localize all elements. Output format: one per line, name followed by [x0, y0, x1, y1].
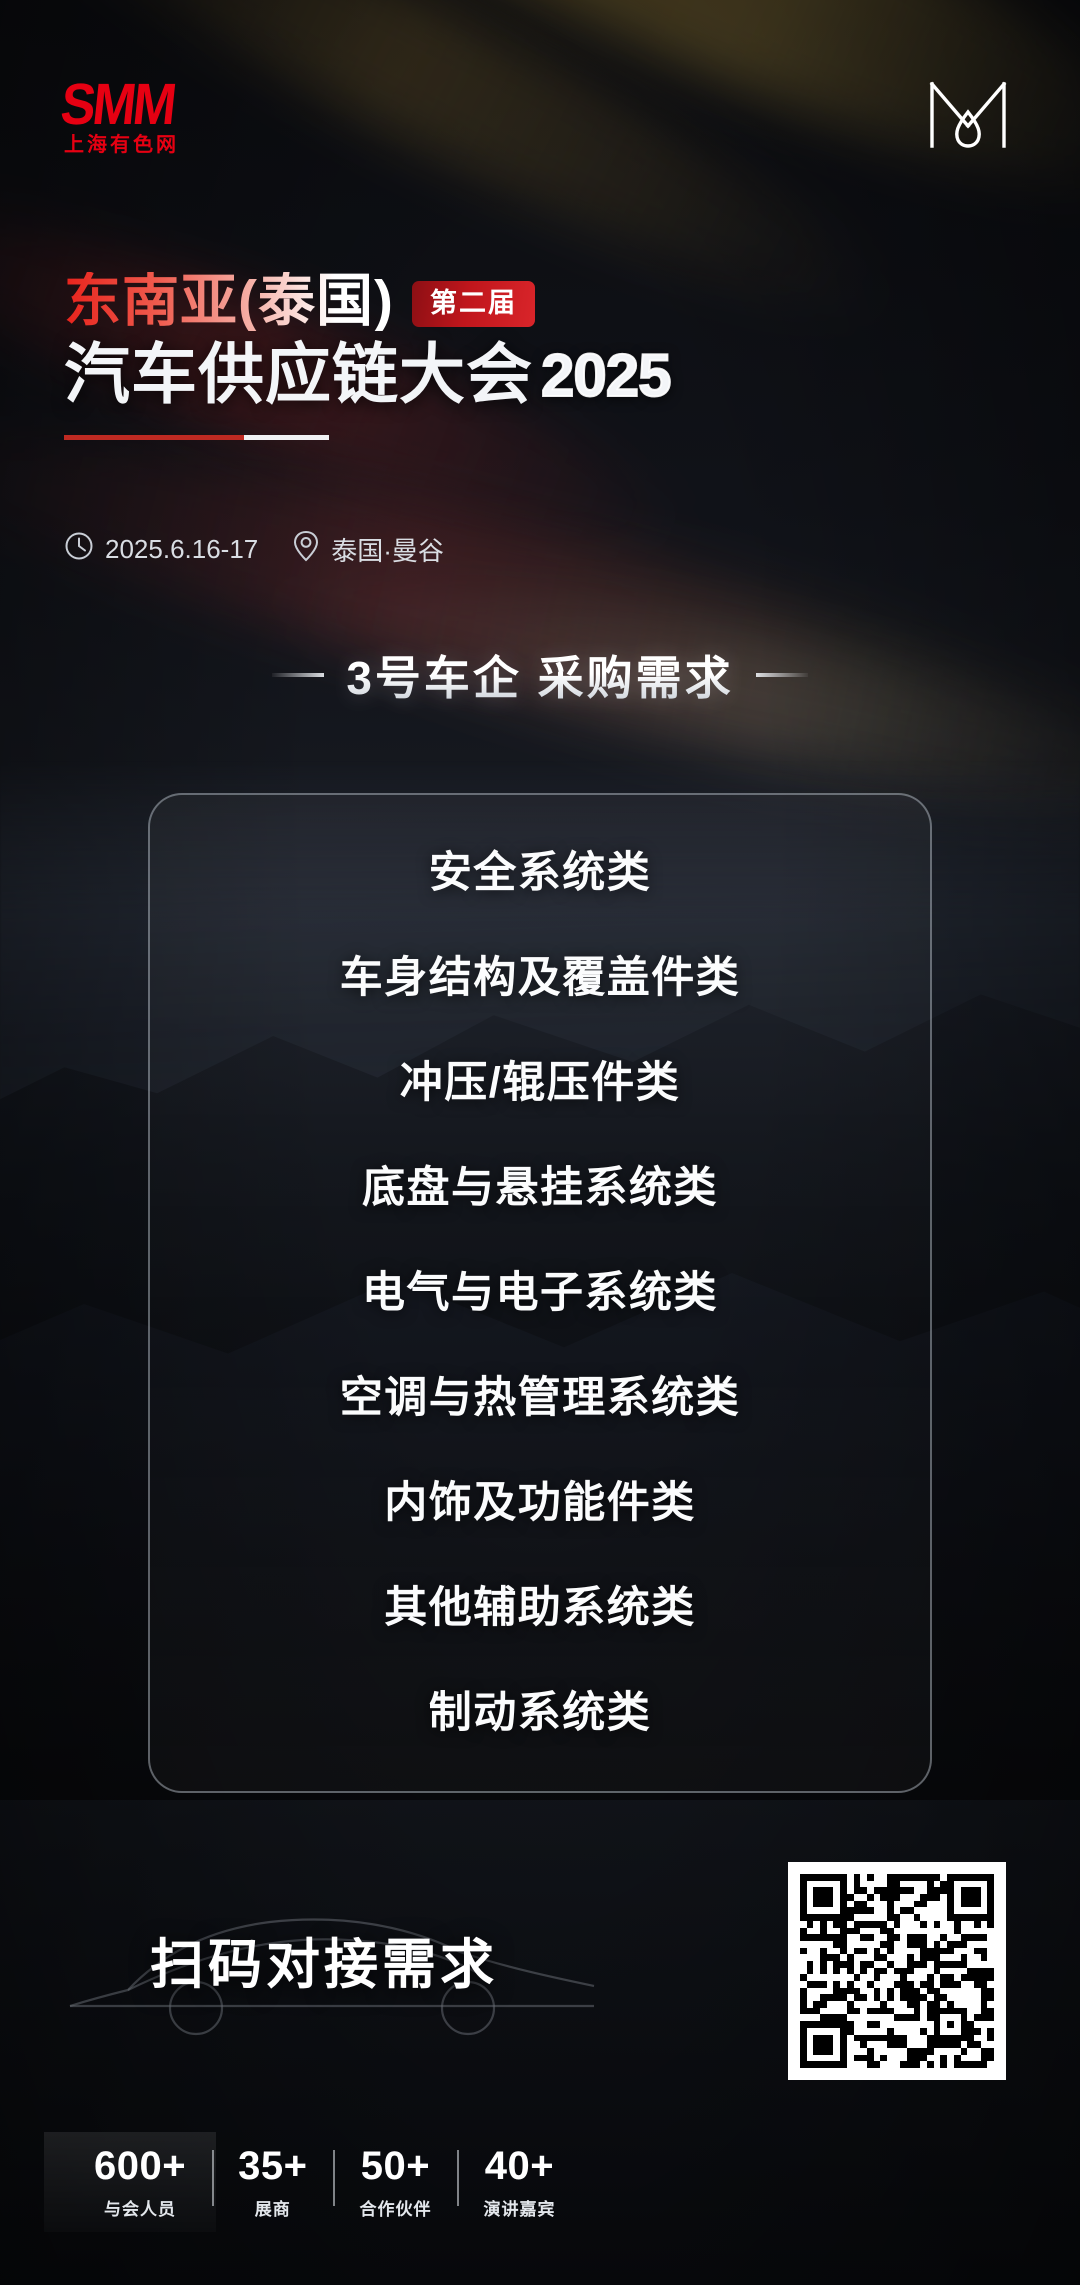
qr-module [840, 1881, 847, 1888]
qr-module [934, 1901, 941, 1908]
qr-module [867, 1887, 874, 1894]
qr-module [847, 1901, 854, 1908]
qr-module [813, 1887, 820, 1894]
qr-module [874, 1928, 881, 1935]
stat-item: 600+与会人员 [64, 2146, 212, 2220]
smm-logo: SMM 上海有色网 [64, 78, 179, 155]
qr-module [840, 2041, 847, 2048]
qr-module [887, 1934, 894, 1941]
qr-module [940, 1981, 947, 1988]
qr-module [807, 2061, 814, 2068]
qr-module [974, 2055, 981, 2062]
qr-module [974, 1881, 981, 1888]
qr-module [813, 2021, 820, 2028]
qr-module [920, 1928, 927, 1935]
qr-module [880, 1894, 887, 1901]
qr-module [927, 1974, 934, 1981]
qr-module [894, 2035, 901, 2042]
qr-module [954, 1941, 961, 1948]
qr-module [954, 1921, 961, 1928]
qr-module [887, 1914, 894, 1921]
qr-module [813, 1974, 820, 1981]
qr-module [947, 2008, 954, 2015]
qr-module [887, 1881, 894, 1888]
qr-module [894, 1974, 901, 1981]
qr-module [867, 1881, 874, 1888]
qr-module [927, 1961, 934, 1968]
qr-module [874, 1974, 881, 1981]
qr-module [954, 2021, 961, 2028]
qr-module [894, 1954, 901, 1961]
qr-module [974, 1901, 981, 1908]
qr-module [914, 1894, 921, 1901]
qr-module [920, 1914, 927, 1921]
qr-module [954, 1874, 961, 1881]
divider-segment-red [64, 435, 244, 440]
poster-canvas: SMM 上海有色网 东南亚(泰国) 第二届 汽车供应链大会 2025 [0, 0, 1080, 2285]
qr-module [894, 2061, 901, 2068]
qr-module [961, 2014, 968, 2021]
qr-module [900, 2008, 907, 2015]
qr-module [833, 2041, 840, 2048]
qr-module [847, 1974, 854, 1981]
qr-module [833, 2001, 840, 2008]
qr-code-icon[interactable] [788, 1862, 1006, 2080]
qr-module [860, 1934, 867, 1941]
qr-module [833, 1954, 840, 1961]
qr-module [894, 1901, 901, 1908]
qr-module [894, 2048, 901, 2055]
qr-module [981, 2035, 988, 2042]
qr-module [981, 1941, 988, 1948]
qr-module [874, 1981, 881, 1988]
qr-module [961, 2028, 968, 2035]
qr-module [947, 2021, 954, 2028]
qr-module [920, 2048, 927, 2055]
qr-module [947, 1961, 954, 1968]
qr-module [907, 1928, 914, 1935]
qr-module [947, 1941, 954, 1948]
qr-module [833, 1914, 840, 1921]
qr-module [887, 1994, 894, 2001]
qr-module [860, 2028, 867, 2035]
qr-module [961, 1974, 968, 1981]
qr-module [947, 1981, 954, 1988]
qr-module [847, 1887, 854, 1894]
qr-module [867, 1948, 874, 1955]
event-meta-row: 2025.6.16-17 泰国·曼谷 [64, 530, 444, 569]
qr-module [920, 1894, 927, 1901]
qr-module [827, 2021, 834, 2028]
qr-module [847, 1988, 854, 1995]
qr-module [800, 1941, 807, 1948]
qr-module [954, 2028, 961, 2035]
qr-module [880, 1881, 887, 1888]
qr-module [967, 1954, 974, 1961]
qr-module [880, 1914, 887, 1921]
qr-module [807, 1994, 814, 2001]
qr-module [987, 1988, 994, 1995]
qr-module [840, 2001, 847, 2008]
qr-module [920, 1974, 927, 1981]
qr-module [940, 2008, 947, 2015]
qr-module [914, 2001, 921, 2008]
qr-module [940, 2041, 947, 2048]
qr-module [833, 1961, 840, 1968]
qr-module [874, 1874, 881, 1881]
qr-module [907, 1974, 914, 1981]
qr-module [854, 2014, 861, 2021]
qr-module [860, 1874, 867, 1881]
qr-module [827, 1948, 834, 1955]
qr-module [900, 1914, 907, 1921]
qr-module [847, 1968, 854, 1975]
qr-module [987, 2055, 994, 2062]
qr-module [867, 2008, 874, 2015]
qr-module [894, 2021, 901, 2028]
qr-module [914, 1948, 921, 1955]
qr-module [987, 1994, 994, 2001]
qr-module [987, 1894, 994, 1901]
qr-module [961, 2055, 968, 2062]
qr-module [981, 1988, 988, 1995]
qr-module [854, 2001, 861, 2008]
qr-module [800, 1928, 807, 1935]
qr-module [981, 1874, 988, 1881]
qr-module [920, 1941, 927, 1948]
qr-module [961, 2048, 968, 2055]
qr-module [800, 1874, 807, 1881]
qr-module [813, 2048, 820, 2055]
qr-module [847, 1941, 854, 1948]
qr-module [820, 1928, 827, 1935]
qr-module [820, 2041, 827, 2048]
qr-module [867, 1921, 874, 1928]
qr-module [833, 1941, 840, 1948]
qr-module [840, 1894, 847, 1901]
qr-module [820, 1921, 827, 1928]
qr-module [807, 1941, 814, 1948]
qr-module [867, 1894, 874, 1901]
qr-module [800, 1954, 807, 1961]
qr-module [800, 1914, 807, 1921]
qr-module [967, 1928, 974, 1935]
qr-module [900, 1968, 907, 1975]
qr-module [927, 2014, 934, 2021]
qr-module [900, 1948, 907, 1955]
qr-module [860, 1894, 867, 1901]
qr-module [967, 2035, 974, 2042]
qr-module [934, 1907, 941, 1914]
qr-module [874, 1907, 881, 1914]
qr-module [807, 1901, 814, 1908]
qr-module [920, 1901, 927, 1908]
qr-module [820, 2008, 827, 2015]
qr-module [887, 1887, 894, 1894]
qr-module [954, 1981, 961, 1988]
qr-module [894, 1988, 901, 1995]
qr-module [813, 1894, 820, 1901]
qr-module [887, 2001, 894, 2008]
qr-module [833, 2048, 840, 2055]
qr-module [900, 1928, 907, 1935]
qr-module [907, 1887, 914, 1894]
qr-module [887, 1954, 894, 1961]
qr-module [854, 1941, 861, 1948]
qr-module [967, 2061, 974, 2068]
qr-module [907, 2028, 914, 2035]
qr-module [880, 2048, 887, 2055]
qr-module [947, 1988, 954, 1995]
qr-module [807, 1961, 814, 1968]
qr-module [914, 2055, 921, 2062]
qr-module [807, 1874, 814, 1881]
qr-module [934, 1921, 941, 1928]
qr-module [813, 2001, 820, 2008]
qr-module [833, 2035, 840, 2042]
qr-module [981, 1887, 988, 1894]
qr-module [907, 2041, 914, 2048]
qr-module [954, 2008, 961, 2015]
qr-module [874, 2048, 881, 2055]
qr-module [927, 1988, 934, 1995]
qr-module [961, 1988, 968, 1995]
qr-module [894, 1961, 901, 1968]
qr-module [880, 1954, 887, 1961]
qr-module [840, 1994, 847, 2001]
qr-module [940, 1874, 947, 1881]
qr-module [807, 1988, 814, 1995]
qr-module [800, 1988, 807, 1995]
qr-module [967, 2041, 974, 2048]
qr-module [987, 2041, 994, 2048]
qr-module [887, 2035, 894, 2042]
qr-module [820, 2001, 827, 2008]
qr-module [927, 2041, 934, 2048]
qr-module [961, 1968, 968, 1975]
qr-module [954, 1907, 961, 1914]
qr-module [854, 1968, 861, 1975]
qr-module [833, 2055, 840, 2062]
qr-module [820, 1934, 827, 1941]
qr-module [880, 1941, 887, 1948]
qr-module [894, 1948, 901, 1955]
qr-module [907, 1934, 914, 1941]
qr-module [940, 2048, 947, 2055]
qr-module [840, 1887, 847, 1894]
qr-module [947, 1907, 954, 1914]
qr-module [954, 2041, 961, 2048]
qr-module [827, 1988, 834, 1995]
qr-module [860, 2021, 867, 2028]
qr-module [947, 1974, 954, 1981]
qr-module [987, 1948, 994, 1955]
qr-module [827, 1881, 834, 1888]
qr-module [833, 2061, 840, 2068]
qr-module [967, 1961, 974, 1968]
qr-module [807, 1914, 814, 1921]
qr-module [800, 2028, 807, 2035]
qr-module [954, 2035, 961, 2042]
qr-module [907, 2061, 914, 2068]
qr-module [927, 1921, 934, 1928]
qr-module [860, 2055, 867, 2062]
qr-module [907, 1921, 914, 1928]
qr-module [874, 1921, 881, 1928]
section-heading: 3号车企 采购需求 [0, 642, 1080, 708]
map-pin-icon [292, 530, 320, 569]
title-year: 2025 [541, 346, 670, 409]
qr-module [914, 1914, 921, 1921]
qr-module [947, 2014, 954, 2021]
qr-module [880, 2055, 887, 2062]
qr-module [981, 2021, 988, 2028]
title-region: 东南亚(泰国) [64, 272, 394, 331]
qr-module [887, 1921, 894, 1928]
qr-module [900, 1974, 907, 1981]
qr-module [887, 1948, 894, 1955]
qr-module [800, 2014, 807, 2021]
stat-number: 50+ [359, 2146, 431, 2186]
qr-module [887, 1928, 894, 1935]
qr-module [967, 2048, 974, 2055]
demand-item: 内饰及功能件类 [176, 1451, 904, 1556]
qr-module [874, 1887, 881, 1894]
qr-module [900, 1988, 907, 1995]
qr-module [981, 1881, 988, 1888]
qr-module [961, 1994, 968, 2001]
qr-module [847, 1934, 854, 1941]
qr-module [920, 2001, 927, 2008]
qr-module [813, 1901, 820, 1908]
qr-module [807, 1928, 814, 1935]
qr-module [894, 2041, 901, 2048]
qr-module [827, 1907, 834, 1914]
qr-module [820, 2021, 827, 2028]
qr-module [974, 2001, 981, 2008]
qr-module [833, 1948, 840, 1955]
smm-logo-subtitle: 上海有色网 [64, 135, 179, 155]
qr-module [961, 1961, 968, 1968]
qr-module [867, 1968, 874, 1975]
qr-module [820, 1894, 827, 1901]
qr-module [947, 2035, 954, 2042]
qr-module [907, 1914, 914, 1921]
poster-header: SMM 上海有色网 [64, 78, 1016, 168]
qr-module [854, 1974, 861, 1981]
qr-module [813, 1941, 820, 1948]
qr-module [887, 1941, 894, 1948]
qr-module [900, 1941, 907, 1948]
qr-module [907, 1881, 914, 1888]
qr-module [947, 2048, 954, 2055]
qr-module [840, 1907, 847, 1914]
qr-module [813, 1981, 820, 1988]
qr-module [934, 1887, 941, 1894]
qr-module [833, 1874, 840, 1881]
qr-module [900, 2048, 907, 2055]
qr-module [927, 1928, 934, 1935]
qr-module [854, 1954, 861, 1961]
qr-module [827, 1954, 834, 1961]
qr-module [887, 2048, 894, 2055]
qr-module [987, 1981, 994, 1988]
qr-module [967, 1981, 974, 1988]
qr-module [961, 1894, 968, 1901]
qr-module [894, 1934, 901, 1941]
qr-module [967, 1974, 974, 1981]
qr-module [900, 1901, 907, 1908]
qr-module [874, 1934, 881, 1941]
qr-module [927, 2028, 934, 2035]
qr-module [940, 1961, 947, 1968]
qr-module [934, 1894, 941, 1901]
qr-module [827, 1901, 834, 1908]
qr-module [981, 1994, 988, 2001]
qr-module [907, 2008, 914, 2015]
qr-module [833, 1894, 840, 1901]
qr-module [847, 2041, 854, 2048]
qr-module [987, 1881, 994, 1888]
qr-module [894, 2028, 901, 2035]
qr-module [807, 1948, 814, 1955]
qr-module [920, 1968, 927, 1975]
qr-module [927, 1941, 934, 1948]
qr-module [867, 1934, 874, 1941]
qr-module [974, 1928, 981, 1935]
qr-module [981, 1934, 988, 1941]
qr-module [894, 1874, 901, 1881]
qr-module [800, 1887, 807, 1894]
qr-module [894, 1921, 901, 1928]
qr-module [854, 1894, 861, 1901]
qr-module [927, 2055, 934, 2062]
qr-module [887, 2061, 894, 2068]
qr-module [840, 1874, 847, 1881]
stats-row: 600+与会人员35+展商50+合作伙伴40+演讲嘉宾 [64, 2146, 581, 2220]
qr-module [934, 2028, 941, 2035]
qr-module [974, 1994, 981, 2001]
qr-module [947, 1954, 954, 1961]
qr-module [807, 2055, 814, 2062]
qr-module [807, 2035, 814, 2042]
qr-module [920, 2028, 927, 2035]
qr-module [867, 1928, 874, 1935]
qr-module [920, 2014, 927, 2021]
qr-module [820, 2048, 827, 2055]
qr-module [927, 1948, 934, 1955]
qr-module [833, 1934, 840, 1941]
title-row-primary: 东南亚(泰国) 第二届 [64, 272, 1032, 331]
qr-module [927, 2061, 934, 2068]
qr-module [827, 1914, 834, 1921]
stat-number: 600+ [94, 2146, 186, 2186]
qr-module [867, 1981, 874, 1988]
qr-module [907, 1941, 914, 1948]
stat-number: 40+ [483, 2146, 555, 2186]
qr-module [981, 2055, 988, 2062]
qr-module [860, 2001, 867, 2008]
qr-module [961, 1901, 968, 1908]
qr-module [827, 2008, 834, 2015]
qr-module [961, 1907, 968, 1914]
qr-module [974, 2008, 981, 2015]
qr-module [947, 2001, 954, 2008]
qr-module [940, 1974, 947, 1981]
qr-module [860, 1994, 867, 2001]
qr-module [800, 2021, 807, 2028]
qr-module [840, 1941, 847, 1948]
